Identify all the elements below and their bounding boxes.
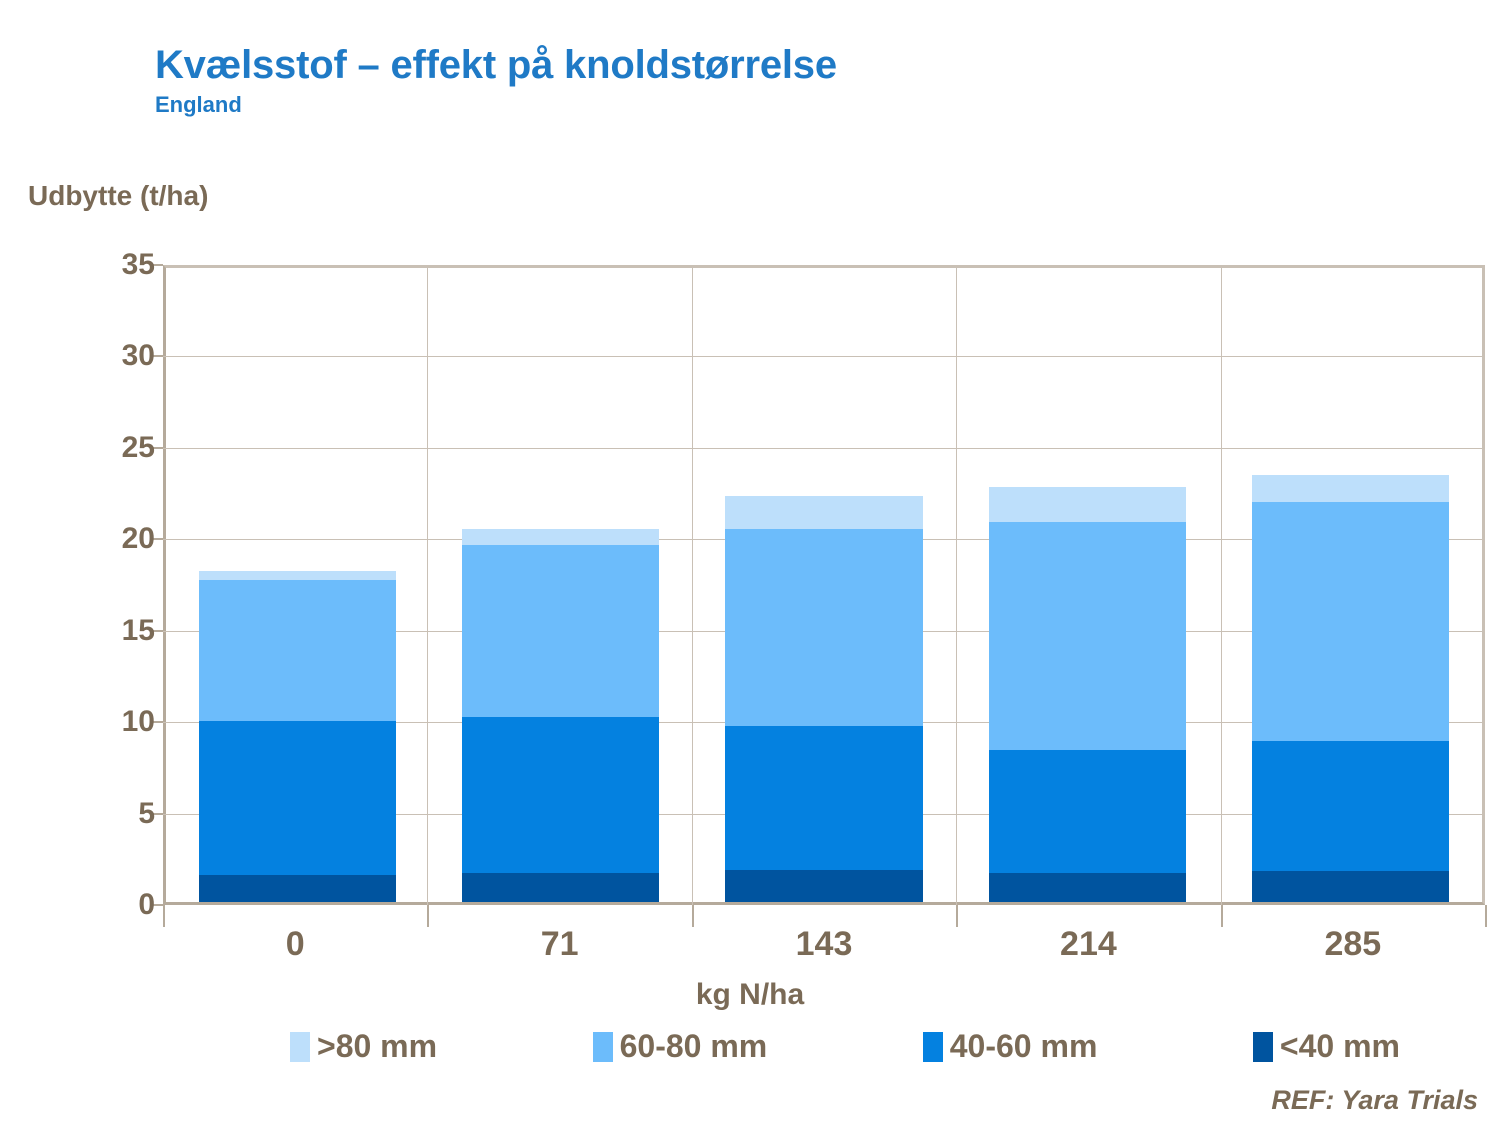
title-block: Kvælsstof – effekt på knoldstørrelse Eng…: [155, 44, 1355, 118]
x-tick-label: 285: [1221, 925, 1485, 964]
x-tick-mark: [163, 905, 165, 927]
bar-segment[interactable]: [462, 873, 659, 902]
x-tick-marks: [163, 905, 1485, 927]
x-tick-mark: [956, 905, 958, 927]
legend-item[interactable]: 60-80 mm: [593, 1028, 768, 1065]
bar-segment[interactable]: [462, 529, 659, 545]
bar-segment[interactable]: [199, 580, 396, 721]
bar-segment[interactable]: [725, 726, 922, 870]
y-tick-label: 0: [35, 888, 155, 922]
x-tick-label: 143: [692, 925, 956, 964]
legend-label: 60-80 mm: [620, 1028, 768, 1065]
legend-item[interactable]: <40 mm: [1253, 1028, 1400, 1065]
bar-segment[interactable]: [1252, 871, 1449, 902]
stacked-bar[interactable]: [462, 529, 659, 902]
bar-slot: [692, 268, 955, 902]
y-tick-label: 5: [35, 797, 155, 831]
legend-label: 40-60 mm: [950, 1028, 1098, 1065]
legend-swatch-icon: [1253, 1032, 1273, 1062]
bar-segment[interactable]: [725, 529, 922, 726]
legend-item[interactable]: 40-60 mm: [923, 1028, 1098, 1065]
bar-slot: [166, 268, 429, 902]
stacked-bar[interactable]: [1252, 475, 1449, 902]
legend-label: <40 mm: [1280, 1028, 1400, 1065]
bar-slot: [429, 268, 692, 902]
bar-segment[interactable]: [1252, 502, 1449, 741]
y-tick-label: 25: [35, 431, 155, 465]
x-tick-mark: [1221, 905, 1223, 927]
bar-slot: [956, 268, 1219, 902]
y-tick-label: 10: [35, 705, 155, 739]
y-tick-label: 35: [35, 248, 155, 282]
x-tick-label: 71: [427, 925, 691, 964]
x-tick-mark: [692, 905, 694, 927]
bar-segment[interactable]: [989, 750, 1186, 873]
bar-segment[interactable]: [989, 873, 1186, 902]
legend-swatch-icon: [290, 1032, 310, 1062]
chart-plot-area: [163, 265, 1485, 905]
bar-segment[interactable]: [1252, 475, 1449, 502]
bar-segment[interactable]: [1252, 741, 1449, 871]
bar-segment[interactable]: [462, 717, 659, 873]
x-tick-mark: [1485, 905, 1487, 927]
page-title: Kvælsstof – effekt på knoldstørrelse: [155, 44, 1355, 86]
stacked-bar[interactable]: [199, 571, 396, 902]
stacked-bar[interactable]: [989, 487, 1186, 902]
chart-legend: >80 mm60-80 mm40-60 mm<40 mm: [290, 1028, 1400, 1065]
legend-swatch-icon: [593, 1032, 613, 1062]
legend-item[interactable]: >80 mm: [290, 1028, 437, 1065]
bar-segment[interactable]: [725, 870, 922, 902]
stacked-bar[interactable]: [725, 496, 922, 902]
bar-segment[interactable]: [462, 545, 659, 717]
y-tick-label: 20: [35, 522, 155, 556]
bar-segment[interactable]: [725, 496, 922, 529]
bars-layer: [166, 268, 1482, 902]
x-tick-label: 214: [956, 925, 1220, 964]
bar-segment[interactable]: [199, 721, 396, 875]
legend-swatch-icon: [923, 1032, 943, 1062]
bar-segment[interactable]: [989, 487, 1186, 521]
bar-segment[interactable]: [199, 571, 396, 580]
y-tick-label: 30: [35, 339, 155, 373]
x-tick-mark: [427, 905, 429, 927]
bar-segment[interactable]: [199, 875, 396, 902]
reference-note: REF: Yara Trials: [1271, 1085, 1478, 1116]
bar-slot: [1219, 268, 1482, 902]
x-tick-label: 0: [163, 925, 427, 964]
y-axis-title: Udbytte (t/ha): [28, 180, 208, 212]
legend-label: >80 mm: [317, 1028, 437, 1065]
x-axis-title: kg N/ha: [0, 978, 1500, 1012]
bar-segment[interactable]: [989, 522, 1186, 750]
x-tick-labels: 071143214285: [163, 925, 1485, 964]
page-subtitle: England: [155, 92, 1355, 118]
y-tick-label: 15: [35, 614, 155, 648]
